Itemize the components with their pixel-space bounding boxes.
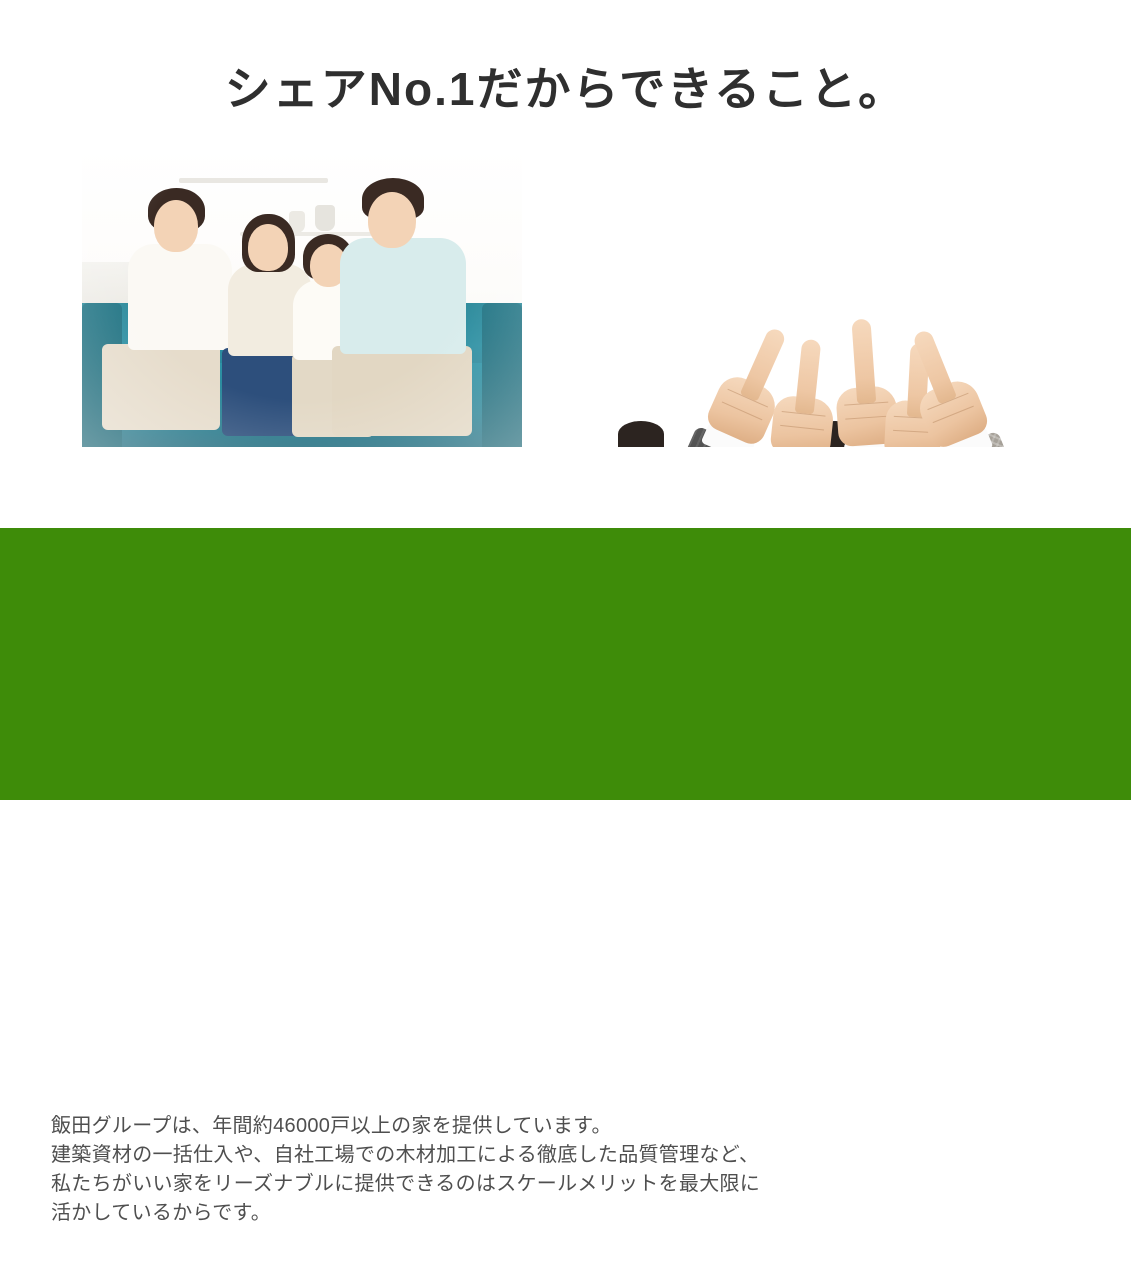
- hands-pointing-up-photo: [610, 170, 1042, 447]
- father-head: [368, 192, 416, 248]
- shelf-decor: [179, 178, 329, 183]
- knuckle-line: [933, 406, 974, 423]
- mother-legs: [102, 344, 220, 430]
- info-card-body-text: 飯田グループは、年間約46000戸以上の家を提供しています。 建築資材の一括仕入…: [51, 1112, 1073, 1228]
- girl-head: [248, 224, 288, 271]
- family-on-sofa-photo: [82, 148, 522, 447]
- info-card: 飯田グループは、年間約46000戸以上の家を提供しています。 建築資材の一括仕入…: [31, 1090, 1103, 1286]
- page-root: シェアNo.1だからできること。: [0, 0, 1131, 800]
- head-silhouette: [618, 421, 664, 447]
- photo-row: [0, 0, 1131, 520]
- sofa-arm-right: [482, 303, 522, 447]
- father-torso: [340, 238, 466, 354]
- father-legs: [332, 346, 472, 436]
- index-finger: [912, 329, 957, 405]
- mother-torso: [128, 244, 232, 350]
- mother-head: [154, 200, 198, 252]
- green-banner: 飯田グループは、年間約46000戸以上の家を提供しています。 建築資材の一括仕入…: [0, 528, 1131, 800]
- jar-decor: [315, 205, 335, 231]
